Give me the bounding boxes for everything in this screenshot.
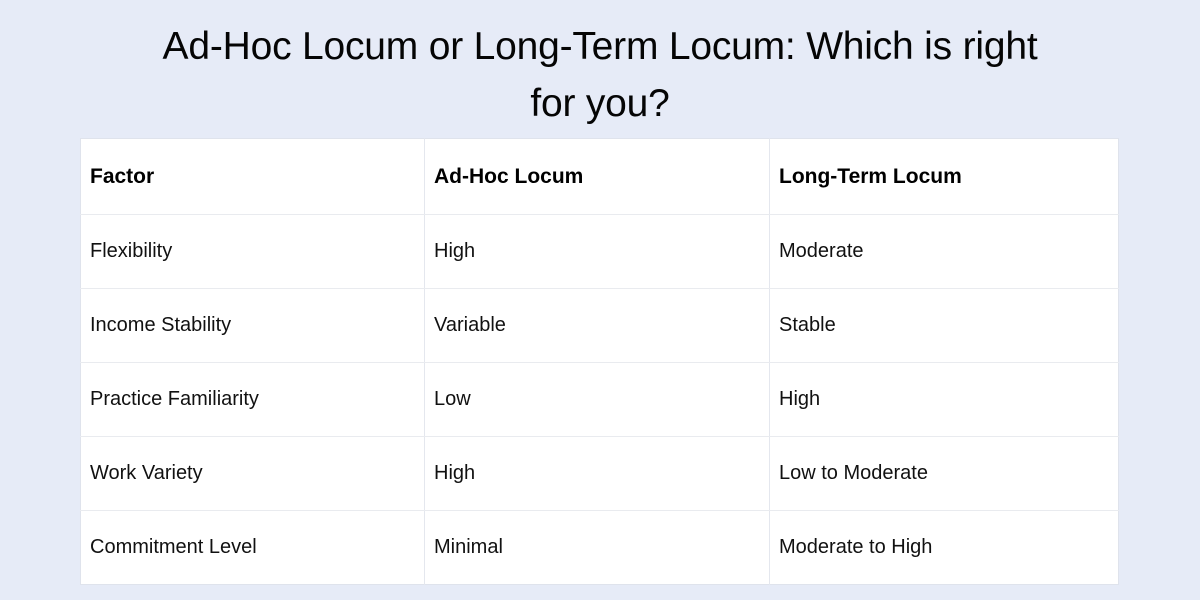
table-row: Work Variety High Low to Moderate [81, 437, 1119, 511]
cell-factor: Practice Familiarity [81, 363, 425, 437]
cell-long-term: High [770, 363, 1119, 437]
page-root: Ad-Hoc Locum or Long-Term Locum: Which i… [0, 0, 1200, 600]
table-row: Practice Familiarity Low High [81, 363, 1119, 437]
table-row: Income Stability Variable Stable [81, 289, 1119, 363]
table-row: Flexibility High Moderate [81, 215, 1119, 289]
column-header-long-term-locum: Long-Term Locum [770, 139, 1119, 215]
cell-factor: Income Stability [81, 289, 425, 363]
cell-long-term: Low to Moderate [770, 437, 1119, 511]
cell-long-term: Moderate [770, 215, 1119, 289]
table-header-row: Factor Ad-Hoc Locum Long-Term Locum [81, 139, 1119, 215]
cell-factor: Work Variety [81, 437, 425, 511]
cell-ad-hoc: Variable [425, 289, 770, 363]
comparison-table-container: Factor Ad-Hoc Locum Long-Term Locum Flex… [80, 138, 1118, 585]
column-header-ad-hoc-locum: Ad-Hoc Locum [425, 139, 770, 215]
table-body: Flexibility High Moderate Income Stabili… [81, 215, 1119, 585]
cell-long-term: Moderate to High [770, 511, 1119, 585]
cell-ad-hoc: Minimal [425, 511, 770, 585]
cell-ad-hoc: High [425, 437, 770, 511]
comparison-table: Factor Ad-Hoc Locum Long-Term Locum Flex… [80, 138, 1119, 585]
column-header-factor: Factor [81, 139, 425, 215]
table-header: Factor Ad-Hoc Locum Long-Term Locum [81, 139, 1119, 215]
cell-factor: Commitment Level [81, 511, 425, 585]
cell-ad-hoc: High [425, 215, 770, 289]
cell-ad-hoc: Low [425, 363, 770, 437]
page-title: Ad-Hoc Locum or Long-Term Locum: Which i… [0, 0, 1200, 133]
cell-long-term: Stable [770, 289, 1119, 363]
table-row: Commitment Level Minimal Moderate to Hig… [81, 511, 1119, 585]
cell-factor: Flexibility [81, 215, 425, 289]
